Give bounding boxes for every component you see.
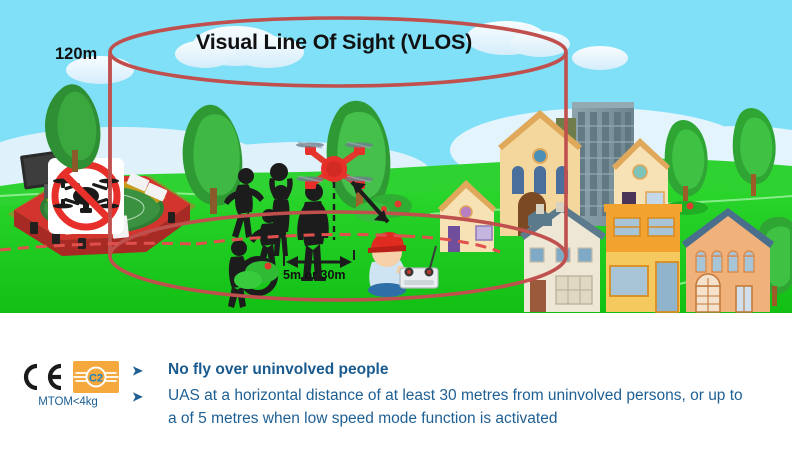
list-item: ➤ UAS at a horizontal distance of at lea… <box>132 385 752 430</box>
list-item: ➤ No fly over uninvolved people <box>132 359 752 382</box>
no-drone-sign-icon <box>48 158 124 234</box>
class-marking-block: C2 MTOM<4kg <box>8 361 128 408</box>
vlos-title: Visual Line Of Sight (VLOS) <box>196 30 472 55</box>
bullet-arrow-icon: ➤ <box>132 359 168 382</box>
height-label: 120m <box>55 45 97 64</box>
caption-panel: C2 MTOM<4kg ➤ No fly over uninvolved peo… <box>0 313 792 461</box>
mtom-label: MTOM<4kg <box>8 396 128 408</box>
bullet-arrow-icon: ➤ <box>132 385 168 408</box>
bullet-text-secondary: UAS at a horizontal distance of at least… <box>168 385 752 430</box>
bullet-text-primary: No fly over uninvolved people <box>168 359 752 382</box>
distance-label: 5m or 30m <box>283 268 346 282</box>
c2-badge-text: C2 <box>89 373 103 385</box>
c2-class-badge-icon: C2 <box>73 361 119 393</box>
ce-mark-icon <box>17 362 65 392</box>
shop-orange <box>604 204 682 312</box>
bullet-list: ➤ No fly over uninvolved people ➤ UAS at… <box>132 359 752 433</box>
vlos-illustration: Visual Line Of Sight (VLOS) 120m 5m or 3… <box>0 0 792 313</box>
